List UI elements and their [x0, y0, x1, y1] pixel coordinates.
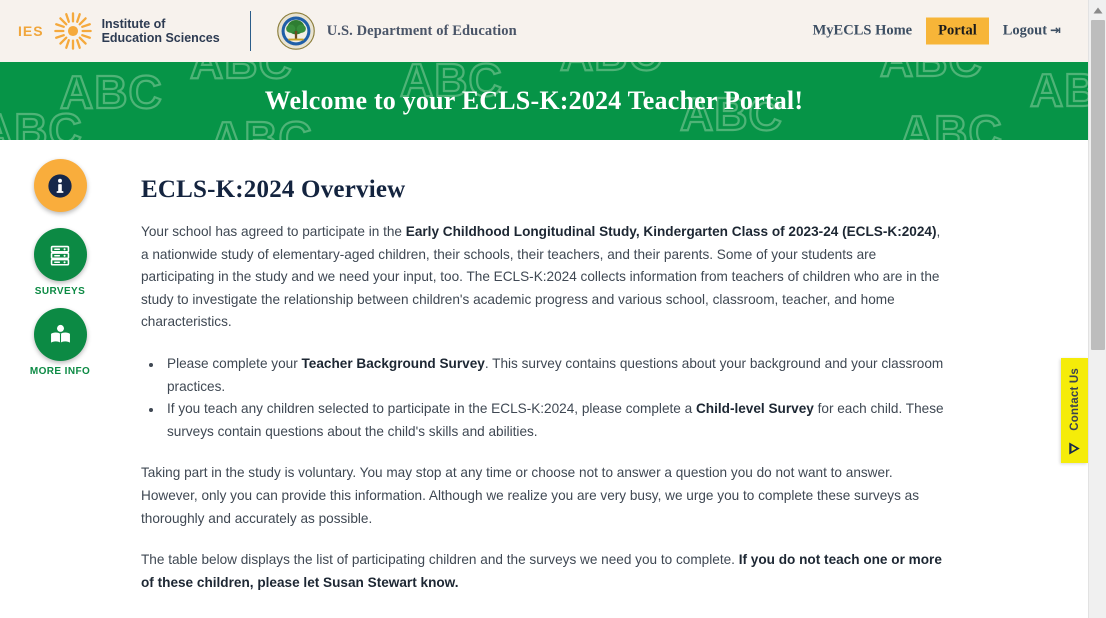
nav-logout-label: Logout: [1003, 23, 1047, 39]
overview-paragraph-2: Taking part in the study is voluntary. Y…: [141, 462, 951, 530]
scroll-thumb[interactable]: [1091, 20, 1105, 350]
contact-us-label: Contact Us: [1069, 368, 1081, 431]
nav-portal[interactable]: Portal: [926, 18, 989, 45]
info-circle: [34, 159, 87, 212]
welcome-banner: ABC ABC ABC ABC ABC ABC ABC ABC ABC ABC …: [0, 62, 1088, 140]
nav-myecls-home[interactable]: MyECLS Home: [804, 18, 921, 45]
rail-item-surveys[interactable]: SURVEYS: [0, 228, 120, 297]
rail-item-more-info[interactable]: MORE INFO: [0, 308, 120, 377]
sunburst-icon: [52, 10, 94, 52]
sign-out-icon: ⇥: [1050, 24, 1061, 39]
paragraph-1-part-b: , a nationwide study of elementary-aged …: [141, 224, 940, 329]
page-scrollbar[interactable]: [1088, 0, 1106, 618]
more-info-circle: [34, 308, 87, 361]
overview-paragraph-3: The table below displays the list of par…: [141, 549, 951, 594]
page-content: IES: [0, 0, 1088, 618]
caret-up-icon: [1093, 7, 1103, 14]
overview-content: ECLS-K:2024 Overview Your school has agr…: [141, 140, 951, 618]
page-title: ECLS-K:2024 Overview: [141, 176, 951, 204]
header-divider: [250, 11, 251, 51]
abc-pattern-text: ABC: [0, 104, 83, 140]
overview-paragraph-1: Your school has agreed to participate in…: [141, 221, 951, 334]
department-of-education-wordmark: U.S. Department of Education: [327, 23, 517, 40]
rail-label-more-info: MORE INFO: [30, 366, 90, 377]
surveys-circle: [34, 228, 87, 281]
surveys-list-icon: [47, 242, 73, 268]
person-reading-book-icon: [47, 321, 74, 348]
paragraph-3-part-a: The table below displays the list of par…: [141, 552, 739, 567]
department-of-education-seal-icon: [277, 12, 315, 50]
body-area: SURVEYS MORE INFO ECLS-K: [0, 140, 1088, 618]
ies-abbreviation: IES: [18, 23, 44, 39]
abc-pattern-text: ABC: [210, 112, 313, 140]
abc-pattern-text: ABC: [190, 62, 293, 88]
rail-item-info[interactable]: [0, 159, 120, 217]
welcome-banner-title: Welcome to your ECLS-K:2024 Teacher Port…: [265, 86, 803, 116]
browser-viewport: IES: [0, 0, 1106, 618]
abc-pattern-text: ABC: [880, 62, 983, 86]
abc-pattern-text: ABC: [560, 62, 663, 80]
chevron-right-icon: [1067, 441, 1082, 456]
contact-us-tab[interactable]: Contact Us: [1061, 358, 1088, 463]
info-icon: [45, 171, 75, 201]
left-icon-rail: SURVEYS MORE INFO: [0, 140, 120, 377]
abc-pattern-text: ABC: [60, 66, 163, 118]
teacher-background-survey-bold: Teacher Background Survey: [302, 356, 485, 371]
ies-logo[interactable]: IES: [18, 10, 220, 52]
bullet-2-part-a: If you teach any children selected to pa…: [167, 401, 696, 416]
header-navigation: MyECLS Home Portal Logout⇥: [804, 18, 1070, 45]
abc-pattern-text: ABC: [900, 106, 1003, 140]
department-of-education-logo[interactable]: U.S. Department of Education: [277, 12, 517, 50]
child-level-survey-bold: Child-level Survey: [696, 401, 814, 416]
scroll-up-arrow[interactable]: [1089, 2, 1106, 18]
rail-label-surveys: SURVEYS: [35, 286, 85, 297]
site-header: IES: [0, 0, 1088, 62]
bullet-1-part-a: Please complete your: [167, 356, 302, 371]
list-item: Please complete your Teacher Background …: [163, 353, 951, 398]
list-item: If you teach any children selected to pa…: [163, 398, 951, 443]
paragraph-1-part-a: Your school has agreed to participate in…: [141, 224, 406, 239]
study-name-bold: Early Childhood Longitudinal Study, Kind…: [406, 224, 937, 239]
overview-paragraph-4: As a thank-you, you have received $20 fo…: [141, 613, 951, 618]
ies-wordmark: Institute of Education Sciences: [102, 17, 220, 45]
abc-pattern-text: ABC: [1030, 64, 1088, 116]
survey-instructions-list: Please complete your Teacher Background …: [163, 353, 951, 443]
nav-logout[interactable]: Logout⇥: [994, 18, 1070, 45]
